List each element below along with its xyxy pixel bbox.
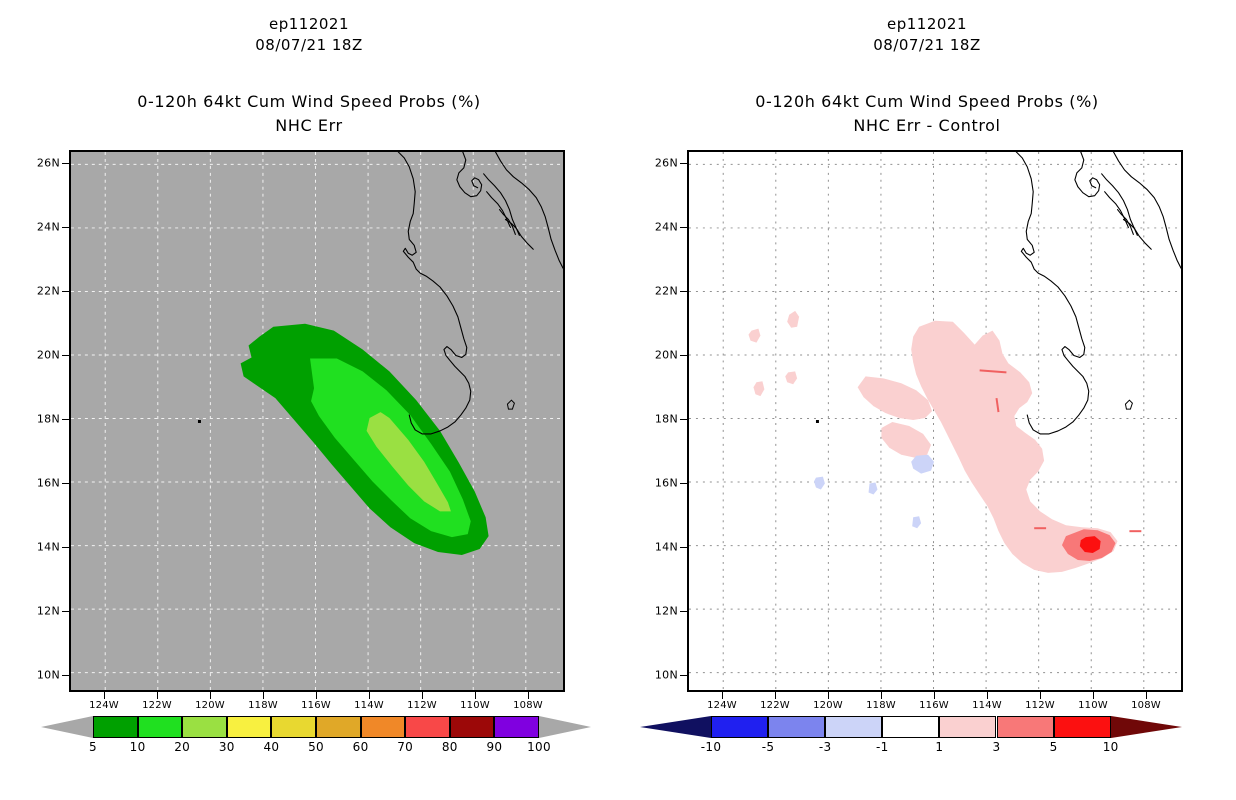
colorbar-tick-label: 10 <box>130 740 146 754</box>
y-tickmark <box>680 227 687 228</box>
x-tickmark <box>263 692 264 699</box>
colorbar-segment[interactable] <box>182 716 227 738</box>
map-left[interactable] <box>69 150 565 692</box>
colorbar-segment[interactable] <box>825 716 882 738</box>
colorbar-segment[interactable] <box>93 716 138 738</box>
y-tick-label: 16N <box>655 478 678 489</box>
colorbar-segment[interactable] <box>494 716 539 738</box>
colorbar-tick-label: 100 <box>527 740 551 754</box>
panel-right-header: ep112021 08/07/21 18Z <box>618 14 1236 56</box>
colorbar-tick-label: 70 <box>397 740 413 754</box>
y-tickmark <box>680 355 687 356</box>
y-tick-label: 10N <box>655 670 678 681</box>
y-tickmark <box>680 419 687 420</box>
panel-left-header: ep112021 08/07/21 18Z <box>0 14 618 56</box>
x-tickmark <box>722 692 723 699</box>
panel-left-title: 0-120h 64kt Cum Wind Speed Probs (%) <box>0 90 618 114</box>
y-tickmark <box>62 547 69 548</box>
colorbar-tick-label: 80 <box>442 740 458 754</box>
panel-right-subtitle: NHC Err - Control <box>618 114 1236 138</box>
colorbar-segment[interactable] <box>450 716 495 738</box>
panel-left: ep112021 08/07/21 18Z 0-120h 64kt Cum Wi… <box>0 0 618 800</box>
y-tickmark <box>62 227 69 228</box>
colorbar-tick-label: 5 <box>1050 740 1058 754</box>
colorbar-segment[interactable] <box>939 716 996 738</box>
x-tick-label: 124W <box>697 701 747 711</box>
colorbar-segment[interactable] <box>768 716 825 738</box>
y-tickmark <box>62 611 69 612</box>
colorbar-segment[interactable] <box>711 716 768 738</box>
colorbar-under-arrow-right <box>640 716 711 738</box>
y-tickmark <box>680 291 687 292</box>
x-tickmark <box>828 692 829 699</box>
y-tick-label: 10N <box>37 670 60 681</box>
y-tick-label: 14N <box>655 542 678 553</box>
colorbar-over-arrow-left <box>539 716 591 738</box>
y-tick-label: 22N <box>37 286 60 297</box>
colorbar-tick-label: 10 <box>1103 740 1119 754</box>
y-tickmark <box>680 675 687 676</box>
x-tick-label: 124W <box>79 701 129 711</box>
x-tickmark <box>157 692 158 699</box>
y-tick-label: 20N <box>37 350 60 361</box>
y-tickmark <box>680 163 687 164</box>
colorbar-right-labels: -10 -5 -3 -1 1 3 5 10 <box>663 740 1163 756</box>
colorbar-over-arrow-right <box>1111 716 1182 738</box>
colorbar-tick-label: -10 <box>701 740 722 754</box>
y-tick-label: 26N <box>655 158 678 169</box>
y-tick-label: 22N <box>655 286 678 297</box>
colorbar-segment[interactable] <box>405 716 450 738</box>
x-tickmark <box>475 692 476 699</box>
x-tick-label: 108W <box>503 701 553 711</box>
panel-left-title-block: 0-120h 64kt Cum Wind Speed Probs (%) NHC… <box>0 90 618 138</box>
island-marker <box>1125 400 1132 409</box>
map-right[interactable] <box>687 150 1183 692</box>
x-tick-label: 114W <box>344 701 394 711</box>
x-tickmark <box>1040 692 1041 699</box>
x-tick-label: 112W <box>1015 701 1065 711</box>
x-tickmark <box>1093 692 1094 699</box>
y-tickmark <box>62 291 69 292</box>
panel-left-subtitle: NHC Err <box>0 114 618 138</box>
colorbar-tick-label: 50 <box>308 740 324 754</box>
x-tick-label: 110W <box>450 701 500 711</box>
y-tick-label: 18N <box>37 414 60 425</box>
x-tick-label: 116W <box>909 701 959 711</box>
y-tick-label: 16N <box>37 478 60 489</box>
colorbar-under-arrow-left <box>41 716 93 738</box>
y-tickmark <box>62 483 69 484</box>
x-tickmark <box>104 692 105 699</box>
colorbar-tick-label: -3 <box>819 740 832 754</box>
coastline-right <box>689 152 1181 690</box>
x-tickmark <box>422 692 423 699</box>
colorbar-segment[interactable] <box>997 716 1054 738</box>
y-tick-label: 12N <box>655 606 678 617</box>
colorbar-tick-label: 30 <box>219 740 235 754</box>
x-tickmark <box>987 692 988 699</box>
x-tick-label: 112W <box>397 701 447 711</box>
y-tickmark <box>680 547 687 548</box>
colorbar-tick-label: 60 <box>353 740 369 754</box>
x-tick-label: 118W <box>856 701 906 711</box>
colorbar-tick-label: 1 <box>935 740 943 754</box>
colorbar-tick-label: 90 <box>486 740 502 754</box>
small-marker <box>816 420 819 423</box>
colorbar-segment[interactable] <box>882 716 939 738</box>
x-tickmark <box>210 692 211 699</box>
colorbar-tick-label: 3 <box>993 740 1001 754</box>
y-tick-label: 24N <box>37 222 60 233</box>
panel-right-storm-id: ep112021 <box>618 14 1236 35</box>
colorbar-left[interactable]: 5 10 20 30 40 50 60 70 80 90 100 <box>45 716 545 738</box>
small-marker <box>198 420 201 423</box>
colorbar-tick-label: -1 <box>876 740 889 754</box>
y-tick-label: 18N <box>655 414 678 425</box>
y-tickmark <box>680 611 687 612</box>
island-marker <box>507 400 514 409</box>
x-tick-label: 120W <box>803 701 853 711</box>
colorbar-right[interactable]: -10 -5 -3 -1 1 3 5 10 <box>663 716 1163 738</box>
colorbar-segment[interactable] <box>138 716 183 738</box>
x-tick-label: 122W <box>132 701 182 711</box>
panel-right-datetime: 08/07/21 18Z <box>618 35 1236 56</box>
panel-left-storm-id: ep112021 <box>0 14 618 35</box>
coastline-left <box>71 152 563 690</box>
y-tick-label: 20N <box>655 350 678 361</box>
colorbar-tick-label: -5 <box>762 740 775 754</box>
panel-right: ep112021 08/07/21 18Z 0-120h 64kt Cum Wi… <box>618 0 1236 800</box>
x-tick-label: 118W <box>238 701 288 711</box>
x-tick-label: 116W <box>291 701 341 711</box>
y-tickmark <box>62 355 69 356</box>
x-tickmark <box>369 692 370 699</box>
x-tick-label: 114W <box>962 701 1012 711</box>
colorbar-segment[interactable] <box>361 716 406 738</box>
x-tickmark <box>528 692 529 699</box>
colorbar-segment[interactable] <box>271 716 316 738</box>
y-tick-label: 24N <box>655 222 678 233</box>
colorbar-tick-label: 40 <box>263 740 279 754</box>
panel-right-title-block: 0-120h 64kt Cum Wind Speed Probs (%) NHC… <box>618 90 1236 138</box>
colorbar-segment[interactable] <box>316 716 361 738</box>
x-tick-label: 120W <box>185 701 235 711</box>
y-tickmark <box>62 675 69 676</box>
colorbar-tick-label: 5 <box>89 740 97 754</box>
y-tickmark <box>62 419 69 420</box>
x-tickmark <box>1146 692 1147 699</box>
colorbar-left-labels: 5 10 20 30 40 50 60 70 80 90 100 <box>45 740 545 756</box>
x-tick-label: 122W <box>750 701 800 711</box>
panel-right-title: 0-120h 64kt Cum Wind Speed Probs (%) <box>618 90 1236 114</box>
x-tickmark <box>775 692 776 699</box>
y-tick-label: 26N <box>37 158 60 169</box>
x-tick-label: 110W <box>1068 701 1118 711</box>
colorbar-tick-label: 20 <box>174 740 190 754</box>
y-tickmark <box>62 163 69 164</box>
colorbar-segment[interactable] <box>227 716 272 738</box>
y-tickmark <box>680 483 687 484</box>
y-tick-label: 12N <box>37 606 60 617</box>
colorbar-segment[interactable] <box>1054 716 1111 738</box>
x-tickmark <box>881 692 882 699</box>
x-tickmark <box>316 692 317 699</box>
panel-left-datetime: 08/07/21 18Z <box>0 35 618 56</box>
y-tick-label: 14N <box>37 542 60 553</box>
figure-container: ep112021 08/07/21 18Z 0-120h 64kt Cum Wi… <box>0 0 1236 800</box>
x-tick-label: 108W <box>1121 701 1171 711</box>
x-tickmark <box>934 692 935 699</box>
